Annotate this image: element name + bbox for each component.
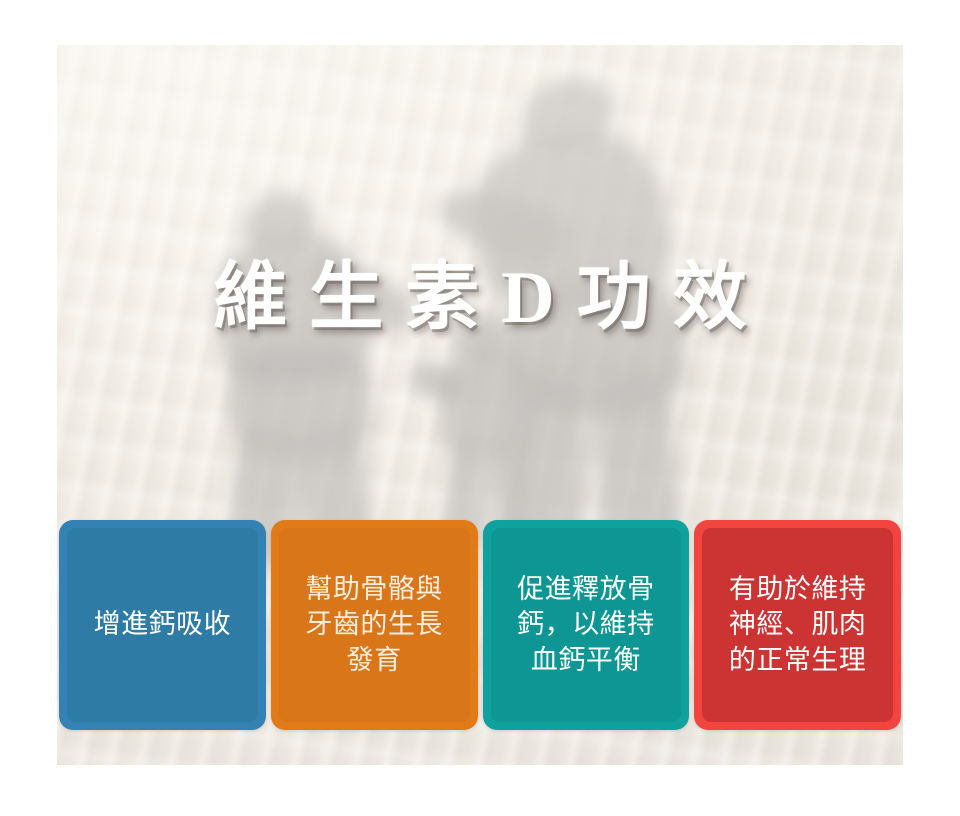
benefit-card-panel: 增進鈣吸收 [67,528,258,722]
poster-canvas: 維生素D功效 增進鈣吸收 幫助骨骼與 牙齒的生長 發育 促進釋放骨 鈣，以維持 … [0,0,960,816]
poster-image: 維生素D功效 增進鈣吸收 幫助骨骼與 牙齒的生長 發育 促進釋放骨 鈣，以維持 … [57,45,903,765]
benefits-card-row: 增進鈣吸收 幫助骨骼與 牙齒的生長 發育 促進釋放骨 鈣，以維持 血鈣平衡 有助… [57,520,903,730]
page-title: 維生素D功效 [57,261,903,335]
benefit-card-panel: 有助於維持 神經、肌肉 的正常生理 [702,528,893,722]
benefit-card-panel: 促進釋放骨 鈣，以維持 血鈣平衡 [491,528,682,722]
benefit-card-label: 增進鈣吸收 [94,607,232,642]
benefit-card-calcium-absorption[interactable]: 增進鈣吸收 [59,520,266,730]
benefit-card-label: 幫助骨骼與 牙齒的生長 發育 [305,572,443,677]
benefit-card-bone-teeth-growth[interactable]: 幫助骨骼與 牙齒的生長 發育 [271,520,478,730]
benefit-card-label: 促進釋放骨 鈣，以維持 血鈣平衡 [517,572,655,677]
benefit-card-label: 有助於維持 神經、肌肉 的正常生理 [729,572,867,677]
benefit-card-release-bone-calcium[interactable]: 促進釋放骨 鈣，以維持 血鈣平衡 [483,520,690,730]
benefit-card-nerve-muscle-function[interactable]: 有助於維持 神經、肌肉 的正常生理 [694,520,901,730]
benefit-card-panel: 幫助骨骼與 牙齒的生長 發育 [279,528,470,722]
